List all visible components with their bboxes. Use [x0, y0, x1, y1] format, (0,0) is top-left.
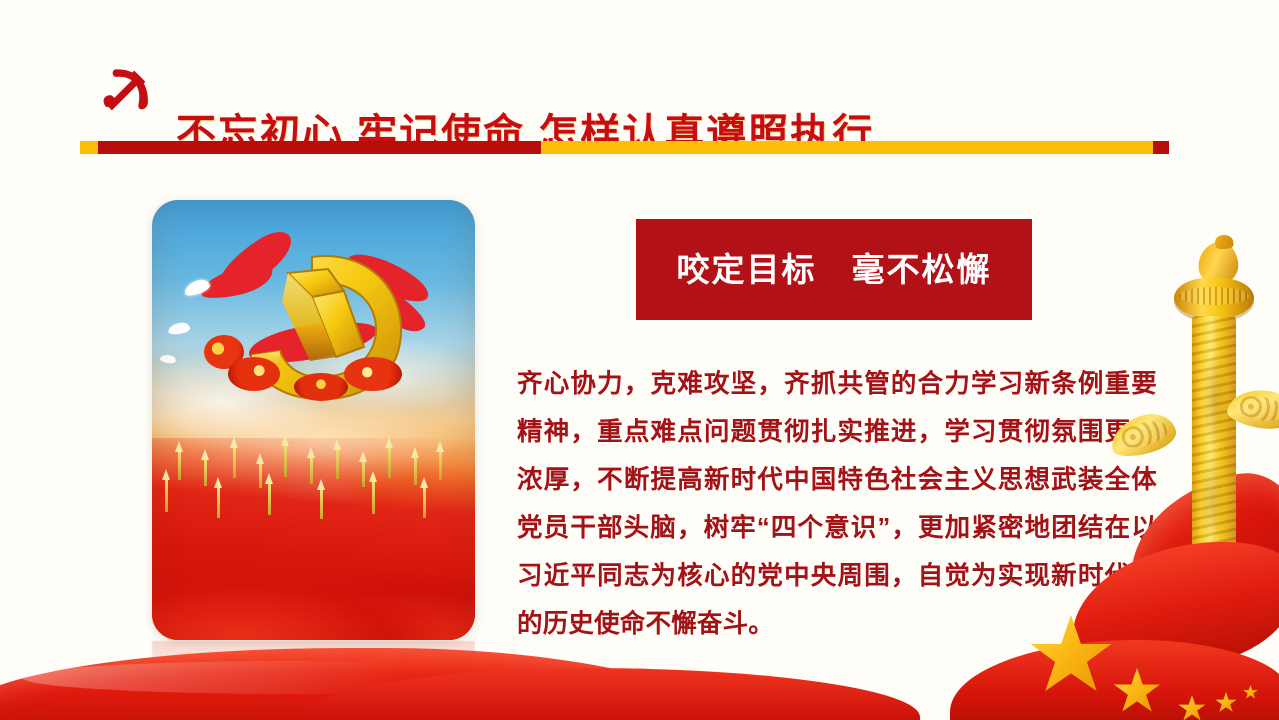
- card-inner-shadow: [152, 200, 475, 640]
- divider-segment-gold: [541, 141, 1153, 154]
- illustration-card: [152, 200, 475, 640]
- banner-title: 咬定目标 毫不松懈: [677, 253, 992, 286]
- header-divider: [0, 141, 1279, 155]
- body-paragraph: 齐心协力，克难攻坚，齐抓共管的合力学习新条例重要精神，重点难点问题贯彻扎实推进，…: [517, 360, 1157, 648]
- divider-segment-red-right: [1153, 141, 1169, 154]
- divider-segment-red: [98, 141, 541, 154]
- highlight-banner: 咬定目标 毫不松懈: [636, 219, 1032, 320]
- slide-header: 不忘初心 牢记使命 怎样认真遵照执行: [0, 52, 1279, 122]
- hammer-sickle-icon: [97, 57, 159, 119]
- huabiao-disk: [1174, 278, 1254, 318]
- slide-canvas: 不忘初心 牢记使命 怎样认真遵照执行: [0, 0, 1279, 720]
- divider-segment-gold-left: [80, 141, 98, 154]
